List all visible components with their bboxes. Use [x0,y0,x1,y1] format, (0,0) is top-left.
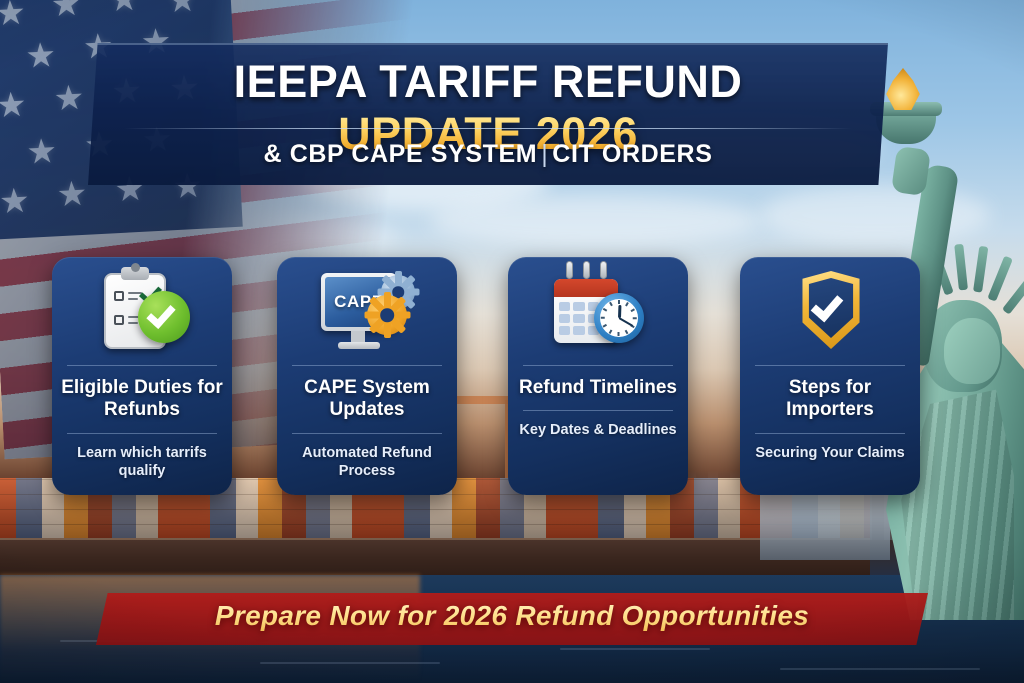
water-ripple [560,648,710,650]
card-icon-area [508,257,688,365]
card-eligible-duties[interactable]: Eligible Duties for Refunbs Learn which … [52,257,232,495]
card-title: Refund Timelines [511,366,685,410]
subtitle-left: & CBP CAPE SYSTEM [264,140,538,168]
card-title: CAPE System Updates [277,366,457,433]
calendar-cell [559,326,570,335]
green-check-badge-icon [138,291,190,343]
shield-check-icon [782,267,878,355]
cta-text: Prepare Now for 2026 Refund Opportunitie… [96,600,928,632]
ship-hull [0,538,870,580]
clipboard-ring [131,263,140,272]
clock-face [600,299,638,337]
card-subtitle: Automated Refund Process [277,434,457,480]
monitor-gears-cape-icon: CAPE [319,267,415,355]
card-refund-timelines[interactable]: Refund Timelines Key Dates & Deadlines [508,257,688,495]
clipboard-check-icon [94,267,190,355]
water-ripple [260,662,440,664]
calendar-cell [573,326,584,335]
gear-orange-icon [367,295,407,335]
calendar-ring [583,261,590,279]
checklist-box [114,315,124,325]
page-subtitle: & CBP CAPE SYSTEM|CIT ORDERS [88,140,888,169]
checklist-line [128,322,138,324]
feature-card-row: Eligible Duties for Refunbs Learn which … [0,257,1024,497]
subtitle-separator: | [537,140,552,168]
monitor-stand-base [338,342,380,349]
calendar-cell [573,302,584,311]
checklist-box [114,291,124,301]
subtitle-right: CIT ORDERS [552,140,712,168]
card-cape-system[interactable]: CAPE [277,257,457,495]
infographic-canvas: ★ ★ ★ ★ ★ ★ ★ ★ ★ ★ ★ ★ ★ ★ ★ ★ ★ ★ [0,0,1024,683]
calendar-clock-icon [550,267,646,355]
calendar-cell [573,314,584,323]
water-ripple [780,668,980,670]
card-icon-area [740,257,920,365]
card-icon-area: CAPE [277,257,457,365]
clock-minute-hand [619,317,634,327]
card-title: Eligible Duties for Refunbs [52,366,232,433]
card-title: Steps for Importers [740,366,920,433]
header-divider [124,128,852,129]
checklist-line [128,298,138,300]
card-icon-area [52,257,232,365]
gear-center-hole [380,308,394,322]
card-subtitle: Securing Your Claims [747,434,912,462]
calendar-ring [566,261,573,279]
calendar-cell [559,314,570,323]
calendar-cell [559,302,570,311]
card-steps-for-importers[interactable]: Steps for Importers Securing Your Claims [740,257,920,495]
cloud-decoration [430,195,760,247]
card-subtitle: Key Dates & Deadlines [511,411,684,439]
clock-icon [594,293,644,343]
card-subtitle: Learn which tarrifs qualify [52,434,232,480]
calendar-ring [600,261,607,279]
badge-checkmark [146,299,175,329]
title-primary: IEEPA TARIFF REFUND [234,56,743,107]
